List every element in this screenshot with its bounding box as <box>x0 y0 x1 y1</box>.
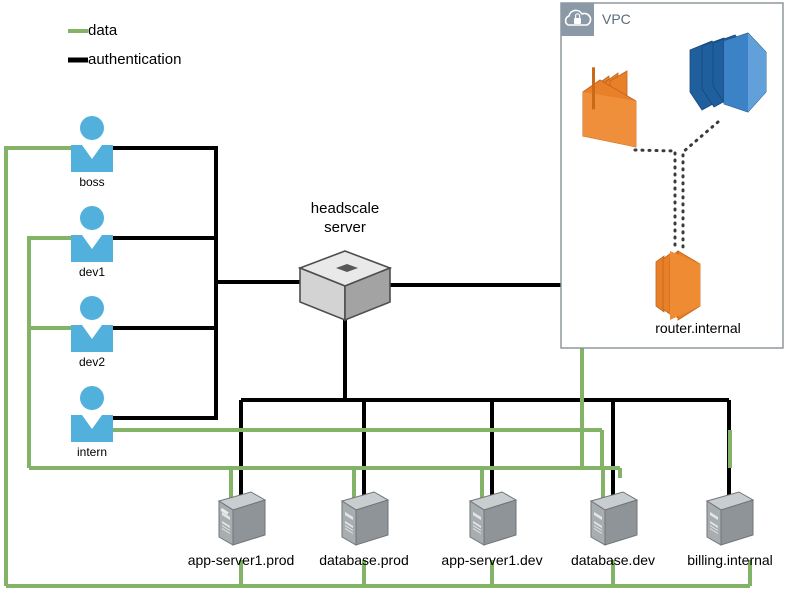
user-icon-boss <box>71 116 113 172</box>
user-icon-dev2 <box>71 296 113 352</box>
server-label-database-dev: database.dev <box>560 552 666 568</box>
server-icon-database-dev <box>591 492 637 545</box>
user-label-dev2: dev2 <box>42 356 142 370</box>
server-icon-database-prod <box>342 492 388 545</box>
user-label-boss: boss <box>42 176 142 190</box>
server-icon-app-server1-dev <box>470 492 516 545</box>
user-icon-intern <box>71 386 113 442</box>
user-icon-dev1 <box>71 206 113 262</box>
vpc-label: VPC <box>602 11 631 27</box>
headscale-title-line2: server <box>285 219 405 236</box>
server-label-app-server1-prod: app-server1.prod <box>181 552 301 568</box>
headscale-server-icon <box>300 251 390 320</box>
auth-link-boss <box>113 148 300 282</box>
router-internal-label: router.internal <box>618 320 778 336</box>
headscale-title-line1: headscale <box>285 200 405 217</box>
user-label-intern: intern <box>42 446 142 460</box>
legend-authentication-label: authentication <box>88 51 181 68</box>
server-icon-app-server1-prod <box>219 492 265 545</box>
diagram-vector-layer <box>0 0 792 593</box>
server-label-app-server1-dev: app-server1.dev <box>436 552 548 568</box>
server-icons <box>219 492 753 545</box>
network-diagram-canvas: data authentication boss dev1 dev2 inter… <box>0 0 792 593</box>
server-icon-billing-internal <box>707 492 753 545</box>
server-label-database-prod: database.prod <box>309 552 419 568</box>
user-label-dev1: dev1 <box>42 266 142 280</box>
server-label-billing-internal: billing.internal <box>676 552 784 568</box>
router-internal-icon <box>656 251 700 320</box>
legend-data-label: data <box>88 22 117 39</box>
auth-link-intern <box>113 282 216 418</box>
legend-swatches <box>68 31 88 60</box>
